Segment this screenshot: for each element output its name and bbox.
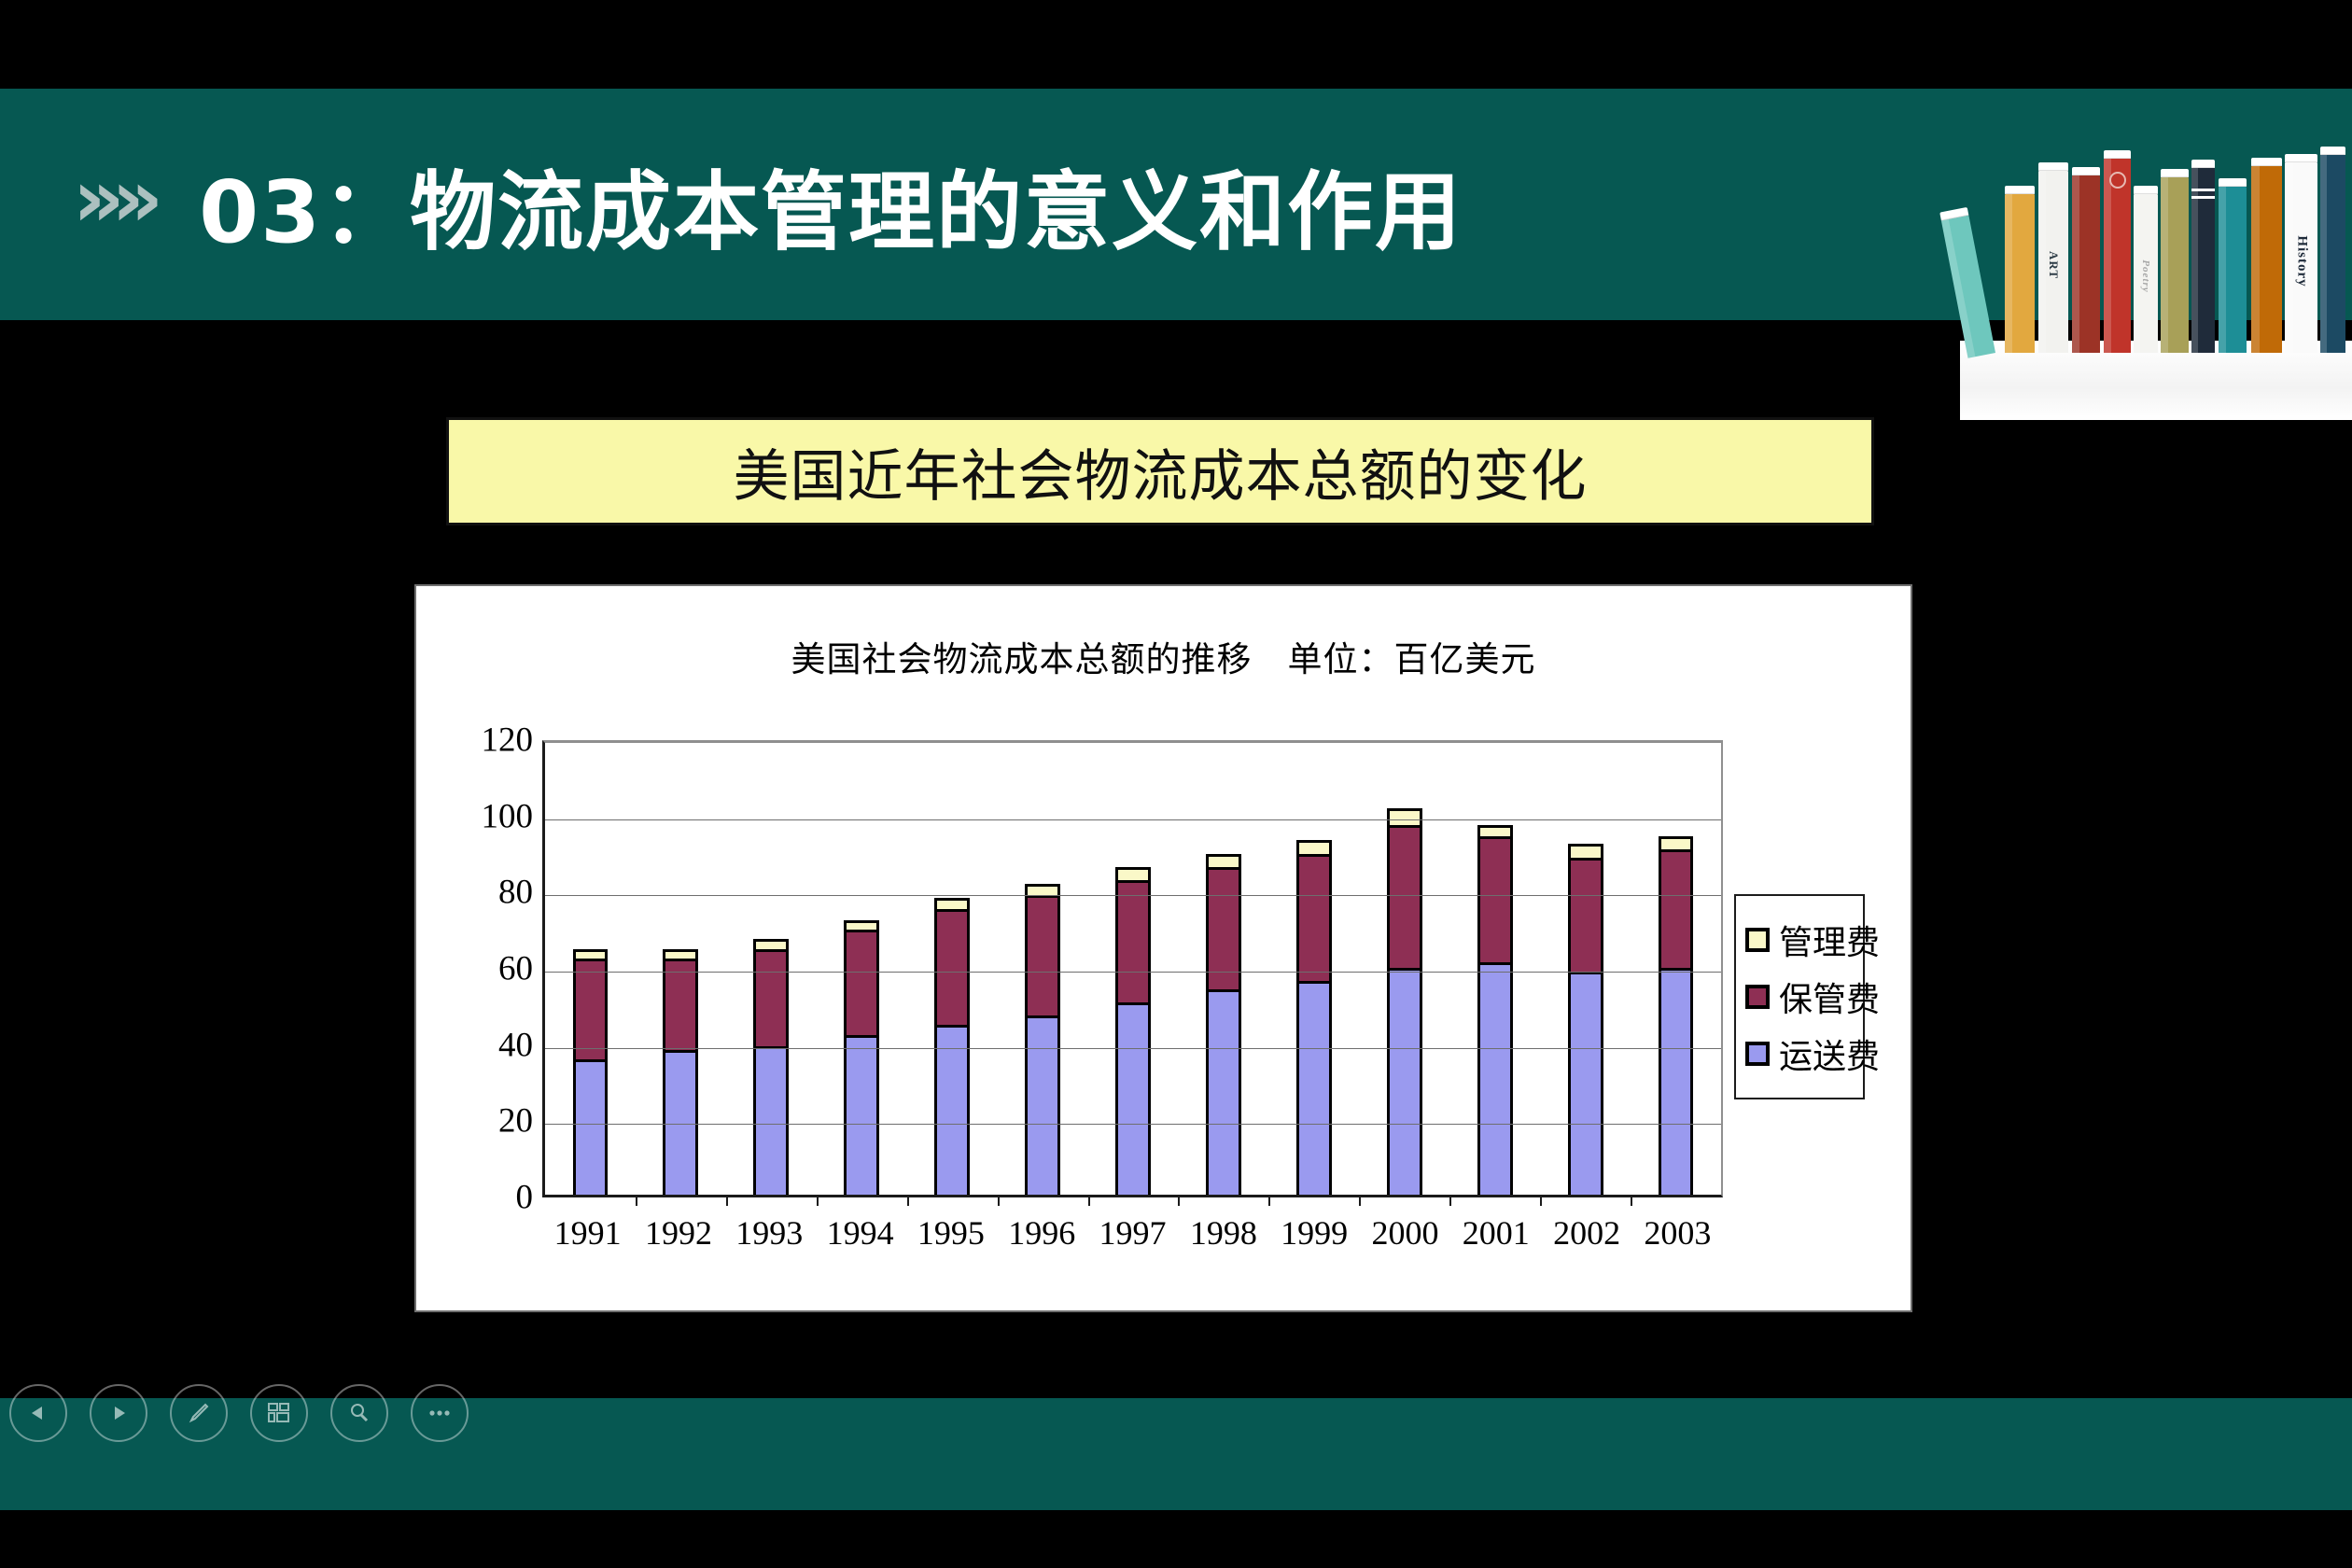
magnifier-icon xyxy=(347,1401,371,1425)
next-slide-button[interactable] xyxy=(90,1384,147,1442)
book-navy xyxy=(2191,168,2215,353)
bar-segment-管理费 xyxy=(1477,825,1513,836)
bar-slot xyxy=(726,743,817,1195)
x-axis-tick-label: 1994 xyxy=(815,1213,905,1253)
bar-segment-管理费 xyxy=(1659,836,1694,849)
bar-slot xyxy=(636,743,726,1195)
bar-segment-保管费 xyxy=(573,959,609,1059)
chart-legend: 管理费保管费运送费 xyxy=(1734,894,1865,1099)
previous-slide-button[interactable] xyxy=(9,1384,67,1442)
book-art: ART xyxy=(2038,171,2068,353)
bar-slot xyxy=(1631,743,1721,1195)
legend-item-保管费: 保管费 xyxy=(1745,973,1854,1021)
x-axis-tick-label: 2000 xyxy=(1360,1213,1450,1253)
bar-slot xyxy=(907,743,998,1195)
bar-segment-保管费 xyxy=(1115,880,1151,1002)
book-emblem-icon xyxy=(2109,172,2126,189)
bar-slot xyxy=(998,743,1088,1195)
bar-segment-运送费 xyxy=(573,1059,609,1195)
legend-item-运送费: 运送费 xyxy=(1745,1029,1854,1078)
bar-segment-保管费 xyxy=(1025,895,1060,1015)
stacked-bar xyxy=(1659,836,1694,1195)
stacked-bar xyxy=(1568,844,1603,1195)
bar-segment-运送费 xyxy=(1206,989,1241,1196)
bar-segment-保管费 xyxy=(753,949,789,1046)
stacked-bar xyxy=(573,949,609,1195)
bar-segment-管理费 xyxy=(844,920,879,930)
stacked-bar xyxy=(1477,825,1513,1195)
page-title: 03：物流成本管理的意义和作用 xyxy=(199,143,1463,267)
book-olive xyxy=(2161,177,2189,353)
plot-wrapper: 020406080100120 xyxy=(542,740,1723,1197)
bar-segment-管理费 xyxy=(573,949,609,959)
bar-segment-保管费 xyxy=(1568,858,1603,973)
y-axis-tick-label: 80 xyxy=(498,873,533,913)
bar-segment-管理费 xyxy=(1025,884,1060,895)
bar-segment-保管费 xyxy=(1296,854,1332,982)
x-axis-tick xyxy=(817,1195,819,1206)
bar-segment-运送费 xyxy=(844,1035,879,1196)
book-poetry: Poetry xyxy=(2134,194,2158,353)
bar-slot xyxy=(545,743,636,1195)
bar-segment-管理费 xyxy=(753,939,789,948)
double-chevron-right-icon: »» xyxy=(73,159,150,239)
book-orange-tan xyxy=(2005,194,2035,353)
bar-slot xyxy=(1449,743,1540,1195)
presentation-slide: »» 03：物流成本管理的意义和作用 ART Poetry xyxy=(0,0,2352,1568)
x-axis-tick xyxy=(726,1195,728,1206)
zoom-button[interactable] xyxy=(330,1384,388,1442)
x-axis-tick-label: 1996 xyxy=(997,1213,1087,1253)
bar-slot xyxy=(817,743,907,1195)
bar-segment-管理费 xyxy=(663,949,698,959)
book-history-label: History xyxy=(2293,235,2309,287)
more-options-button[interactable] xyxy=(411,1384,469,1442)
x-axis-tick xyxy=(1540,1195,1542,1206)
grid-line xyxy=(545,1048,1721,1049)
x-axis-tick xyxy=(636,1195,637,1206)
bar-segment-保管费 xyxy=(1206,867,1241,989)
bar-segment-保管费 xyxy=(934,909,970,1026)
x-axis-tick-label: 1993 xyxy=(724,1213,815,1253)
book-poetry-label: Poetry xyxy=(2140,260,2151,293)
bar-slot xyxy=(1359,743,1449,1195)
legend-swatch xyxy=(1745,1042,1770,1066)
bar-segment-管理费 xyxy=(1206,854,1241,867)
bar-slot xyxy=(1178,743,1268,1195)
x-axis-tick xyxy=(907,1195,909,1206)
bar-segment-管理费 xyxy=(934,898,970,909)
caption-text: 美国近年社会物流成本总额的变化 xyxy=(734,431,1588,512)
bar-segment-运送费 xyxy=(1568,972,1603,1195)
stacked-bar xyxy=(1025,884,1060,1195)
chart-container: 美国社会物流成本总额的推移 单位：百亿美元 020406080100120 19… xyxy=(414,584,1912,1312)
book-stripe xyxy=(2191,189,2215,191)
stacked-bar xyxy=(1115,867,1151,1195)
y-axis-tick-label: 100 xyxy=(482,796,534,836)
x-axis-tick xyxy=(998,1195,1000,1206)
y-axis-tick-label: 20 xyxy=(498,1101,533,1141)
bar-segment-管理费 xyxy=(1568,844,1603,857)
caption-box: 美国近年社会物流成本总额的变化 xyxy=(446,417,1874,525)
x-axis-labels: 1991199219931994199519961997199819992000… xyxy=(542,1213,1723,1253)
legend-swatch xyxy=(1745,928,1770,952)
bar-slot xyxy=(1540,743,1631,1195)
legend-label: 运送费 xyxy=(1779,1029,1880,1078)
x-axis-tick-label: 2003 xyxy=(1632,1213,1723,1253)
triangle-right-icon xyxy=(108,1403,129,1423)
bar-segment-运送费 xyxy=(1115,1002,1151,1195)
ellipsis-icon xyxy=(427,1408,452,1418)
x-axis-tick xyxy=(1268,1195,1270,1206)
x-axis-tick-label: 1999 xyxy=(1269,1213,1360,1253)
book-orange xyxy=(2251,166,2282,353)
x-axis-tick-label: 1995 xyxy=(905,1213,996,1253)
pen-icon xyxy=(187,1401,211,1425)
bar-segment-运送费 xyxy=(663,1050,698,1195)
pen-tool-button[interactable] xyxy=(170,1384,228,1442)
grid-line xyxy=(545,895,1721,896)
x-axis-tick xyxy=(1178,1195,1180,1206)
plot-area xyxy=(542,740,1723,1197)
x-axis-tick xyxy=(1088,1195,1090,1206)
bar-slot xyxy=(1088,743,1179,1195)
x-axis-tick-label: 1992 xyxy=(633,1213,723,1253)
legend-item-管理费: 管理费 xyxy=(1745,916,1854,964)
x-axis-tick-label: 1991 xyxy=(542,1213,633,1253)
bar-segment-管理费 xyxy=(1296,840,1332,853)
y-axis-labels: 020406080100120 xyxy=(440,740,533,1197)
bar-slot xyxy=(1268,743,1359,1195)
y-axis-tick-label: 60 xyxy=(498,949,533,989)
x-axis-tick-label: 2002 xyxy=(1541,1213,1631,1253)
stacked-bar xyxy=(844,920,879,1195)
x-axis-tick-label: 1998 xyxy=(1178,1213,1268,1253)
bar-segment-运送费 xyxy=(934,1025,970,1195)
bar-segment-运送费 xyxy=(753,1046,789,1195)
y-axis-tick-label: 120 xyxy=(482,721,534,761)
book-dark-red xyxy=(2072,175,2100,353)
bar-segment-管理费 xyxy=(1387,808,1422,825)
bar-segment-管理费 xyxy=(1115,867,1151,880)
bar-segment-运送费 xyxy=(1025,1015,1060,1195)
bar-segment-运送费 xyxy=(1387,968,1422,1195)
grid-line xyxy=(545,1124,1721,1125)
legend-label: 保管费 xyxy=(1779,973,1880,1021)
book-art-label: ART xyxy=(2046,251,2061,279)
bar-segment-保管费 xyxy=(844,930,879,1034)
triangle-left-icon xyxy=(28,1403,49,1423)
legend-swatch xyxy=(1745,985,1770,1009)
presentation-toolbar[interactable] xyxy=(9,1384,469,1442)
y-axis-tick-label: 0 xyxy=(516,1178,534,1218)
stacked-bar xyxy=(663,949,698,1195)
x-axis-tick xyxy=(1359,1195,1361,1206)
bar-segment-运送费 xyxy=(1477,962,1513,1195)
book-stripe xyxy=(2191,196,2215,199)
chart-title: 美国社会物流成本总额的推移 单位：百亿美元 xyxy=(416,631,1911,681)
x-axis-tick-label: 1997 xyxy=(1087,1213,1178,1253)
stacked-bar xyxy=(1206,854,1241,1195)
grid-line xyxy=(545,972,1721,973)
bar-segment-保管费 xyxy=(1477,836,1513,962)
stacked-bar xyxy=(1296,840,1332,1195)
bar-segment-运送费 xyxy=(1659,968,1694,1195)
slide-overview-button[interactable] xyxy=(250,1384,308,1442)
bar-segment-保管费 xyxy=(1387,825,1422,968)
book-history: History xyxy=(2285,162,2317,353)
grid-line xyxy=(545,819,1721,820)
stack-of-books-illustration: ART Poetry History xyxy=(1960,159,2352,420)
bar-segment-保管费 xyxy=(1659,849,1694,968)
book-teal xyxy=(2219,187,2247,353)
x-axis-tick-label: 2001 xyxy=(1450,1213,1541,1253)
x-axis-tick xyxy=(1631,1195,1632,1206)
stacked-bar xyxy=(934,898,970,1195)
book-dark-blue xyxy=(2320,155,2345,353)
x-axis-tick xyxy=(1449,1195,1451,1206)
stacked-bar xyxy=(1387,808,1422,1195)
y-axis-tick-label: 40 xyxy=(498,1025,533,1065)
bar-segment-运送费 xyxy=(1296,981,1332,1195)
grid-panels-icon xyxy=(266,1401,292,1425)
stacked-bar xyxy=(753,939,789,1195)
legend-label: 管理费 xyxy=(1779,916,1880,964)
bar-group xyxy=(545,743,1721,1195)
book-red-emblem xyxy=(2104,159,2131,353)
